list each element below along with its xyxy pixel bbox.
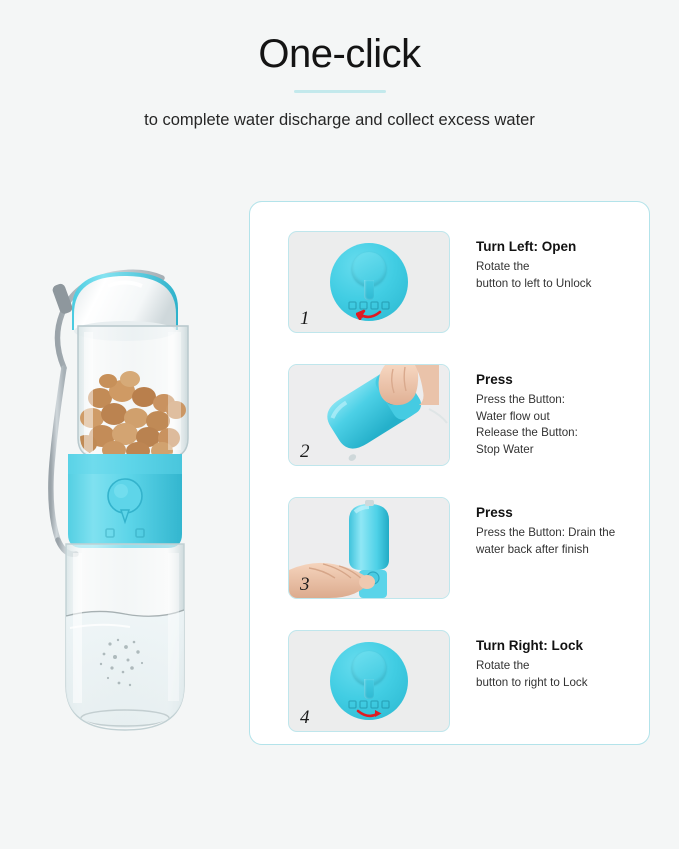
step-thumbnail-3: 3 <box>288 497 450 599</box>
step-title: Press <box>476 372 578 388</box>
steps-panel: 1 Turn Left: Open Rotate the button to l… <box>249 201 650 745</box>
step-number: 2 <box>300 442 310 461</box>
cap-stem <box>364 679 374 699</box>
step-text: Turn Right: Lock Rotate the button to ri… <box>450 630 588 691</box>
step-row: 2 Press Press the Button: Water flow out… <box>250 364 649 464</box>
step-row: 4 Turn Right: Lock Rotate the button to … <box>250 630 649 730</box>
cap-turn-right-icon <box>289 631 449 731</box>
step-thumbnail-2: 2 <box>288 364 450 466</box>
step-description: Rotate the button to right to Lock <box>476 658 588 691</box>
step-text: Press Press the Button: Drain the water … <box>450 497 615 558</box>
step-row: 1 Turn Left: Open Rotate the button to l… <box>250 231 649 331</box>
steps-list: 1 Turn Left: Open Rotate the button to l… <box>250 202 649 763</box>
step-thumbnail-4: 4 <box>288 630 450 732</box>
step-title: Turn Right: Lock <box>476 638 588 654</box>
hand <box>379 365 439 405</box>
step-text: Press Press the Button: Water flow out R… <box>450 364 578 458</box>
water <box>66 610 184 730</box>
step-title: Press <box>476 505 615 521</box>
hand-press-tilted-bottle-icon <box>289 365 449 465</box>
step-number: 1 <box>300 309 310 328</box>
rotate-right-arrow-icon <box>356 708 382 719</box>
step-description: Rotate the button to left to Unlock <box>476 259 591 292</box>
cap-stem <box>364 280 374 300</box>
step-description: Press the Button: Water flow out Release… <box>476 392 578 458</box>
step-number: 3 <box>300 575 310 594</box>
step-row: 3 Press Press the Button: Drain the wate… <box>250 497 649 597</box>
hand-press-upright-bottle-icon <box>289 498 449 598</box>
product-photo-illustration <box>18 248 233 748</box>
header: One-click to complete water discharge an… <box>0 0 679 131</box>
rotate-left-arrow-icon <box>356 309 382 320</box>
page-title: One-click <box>0 0 679 76</box>
step-text: Turn Left: Open Rotate the button to lef… <box>450 231 591 292</box>
step-number: 4 <box>300 708 310 727</box>
step-title: Turn Left: Open <box>476 239 591 255</box>
cap-turn-left-icon <box>289 232 449 332</box>
step-thumbnail-1: 1 <box>288 231 450 333</box>
product-photo <box>18 248 233 748</box>
bottle-top <box>349 504 389 570</box>
page-subtitle: to complete water discharge and collect … <box>0 93 679 131</box>
step-description: Press the Button: Drain the water back a… <box>476 525 615 558</box>
